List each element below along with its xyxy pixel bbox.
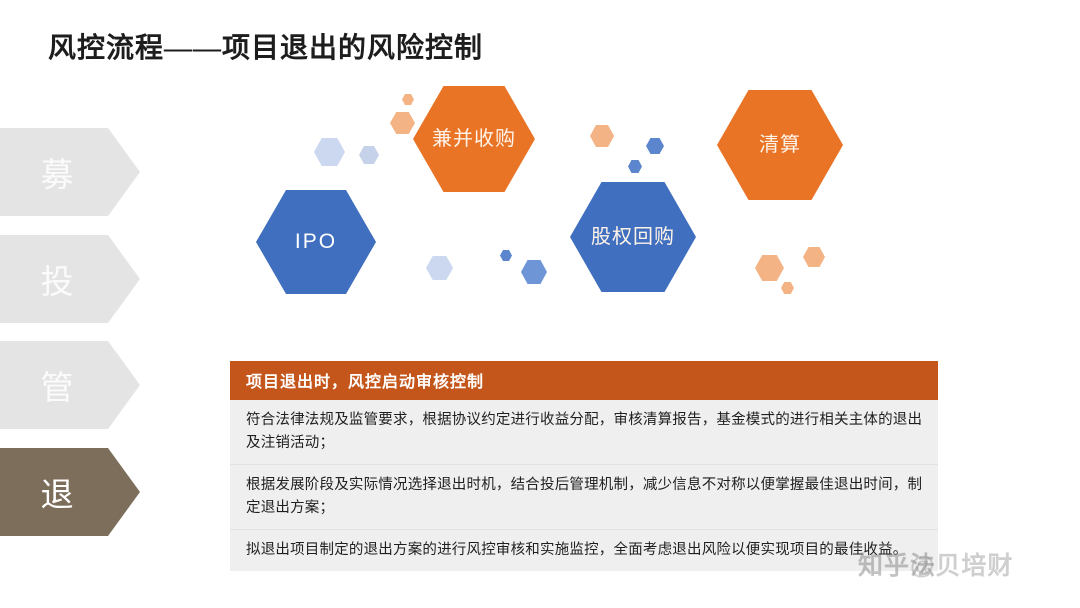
decor-hexagon-icon	[803, 247, 825, 267]
exit-route-label: 清算	[759, 133, 801, 157]
panel-row: 根据发展阶段及实际情况选择退出时机，结合投后管理机制，减少信息不对称以便掌握最佳…	[230, 465, 938, 530]
exit-route-label: 股权回购	[591, 225, 675, 249]
stage-label: 募	[41, 148, 76, 196]
decor-hexagon-icon	[755, 255, 784, 281]
slide-canvas: 风控流程——项目退出的风险控制 募 投 管 退 IPO 兼并收购 股权回购	[0, 0, 1080, 608]
decor-hexagon-icon	[521, 260, 547, 284]
stage-label: 投	[41, 255, 76, 303]
page-title: 风控流程——项目退出的风险控制	[48, 26, 483, 66]
panel-row: 拟退出项目制定的退出方案的进行风控审核和实施监控，全面考虑退出风险以便实现项目的…	[230, 530, 938, 571]
stage-item-guan[interactable]: 管	[0, 341, 140, 429]
stage-label: 退	[41, 468, 76, 516]
watermark: 知乎法 @贝培财	[858, 546, 1068, 582]
panel-body: 符合法律法规及监管要求，根据协议约定进行收益分配，审核清算报告，基金模式的进行相…	[230, 400, 938, 571]
decor-hexagon-icon	[426, 256, 453, 280]
decor-hexagon-icon	[628, 160, 642, 173]
exit-route-ipo[interactable]: IPO	[256, 190, 376, 294]
decor-hexagon-icon	[500, 250, 512, 261]
exit-route-merger-acquisition[interactable]: 兼并收购	[413, 86, 535, 192]
watermark-secondary-text: @贝培财	[910, 546, 1013, 582]
exit-route-liquidation[interactable]: 清算	[717, 90, 843, 200]
stage-label: 管	[41, 361, 76, 409]
exit-routes-diagram: IPO 兼并收购 股权回购 清算	[230, 70, 930, 320]
exit-route-equity-buyback[interactable]: 股权回购	[570, 182, 696, 292]
decor-hexagon-icon	[314, 138, 345, 166]
panel-header-title: 项目退出时，风控启动审核控制	[230, 361, 938, 400]
stage-item-tui-active[interactable]: 退	[0, 448, 140, 536]
exit-route-label: IPO	[295, 229, 337, 255]
exit-route-label: 兼并收购	[432, 127, 516, 151]
stage-item-tou[interactable]: 投	[0, 235, 140, 323]
decor-hexagon-icon	[359, 146, 379, 164]
panel-row: 符合法律法规及监管要求，根据协议约定进行收益分配，审核清算报告，基金模式的进行相…	[230, 400, 938, 465]
risk-control-panel: 项目退出时，风控启动审核控制 符合法律法规及监管要求，根据协议约定进行收益分配，…	[230, 361, 938, 571]
decor-hexagon-icon	[402, 94, 414, 105]
decor-hexagon-icon	[590, 125, 614, 147]
decor-hexagon-icon	[390, 112, 415, 134]
decor-hexagon-icon	[781, 282, 794, 294]
decor-hexagon-icon	[646, 138, 664, 154]
stage-item-mu[interactable]: 募	[0, 128, 140, 216]
